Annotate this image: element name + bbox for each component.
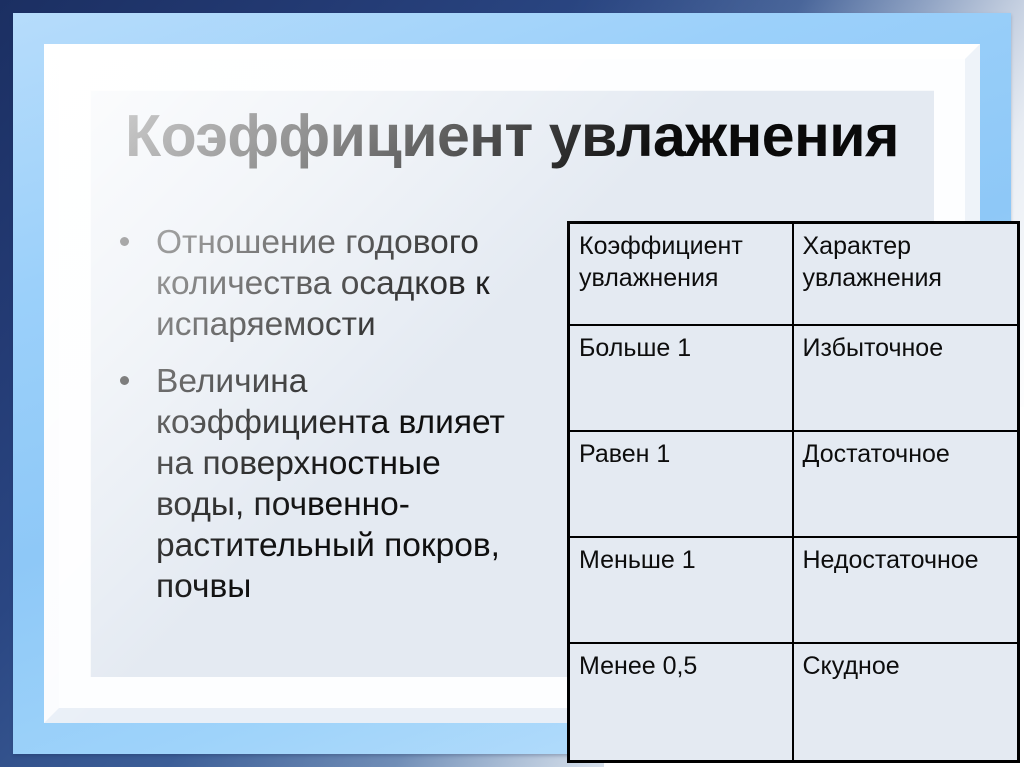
table-cell-character: Достаточное — [793, 431, 1019, 537]
table-header-cell: Коэффициент увлажнения — [569, 223, 793, 326]
table-row: Больше 1 Избыточное — [569, 325, 1019, 431]
table-cell-character: Избыточное — [793, 325, 1019, 431]
table-row: Коэффициент увлажнения Характер увлажнен… — [569, 223, 1019, 326]
table-cell-character: Скудное — [793, 643, 1019, 762]
moisture-coefficient-table: Коэффициент увлажнения Характер увлажнен… — [567, 221, 1020, 763]
slide-content-area: Коэффициент увлажнения Отношение годовог… — [90, 90, 934, 677]
slide-body: Отношение годового количества осадков к … — [90, 208, 934, 677]
list-item: Отношение годового количества осадков к … — [104, 222, 534, 345]
table-cell-character: Недостаточное — [793, 537, 1019, 643]
bullet-dot-icon — [120, 237, 129, 246]
table-row: Менее 0,5 Скудное — [569, 643, 1019, 762]
table-cell-coefficient: Больше 1 — [569, 325, 793, 431]
table-cell-coefficient: Менее 0,5 — [569, 643, 793, 762]
page-title: Коэффициент увлажнения — [90, 106, 934, 168]
bullet-list: Отношение годового количества осадков к … — [104, 222, 534, 623]
list-item-text: Отношение годового количества осадков к … — [156, 224, 490, 343]
bullet-dot-icon — [120, 376, 129, 385]
slide-canvas: Коэффициент увлажнения Отношение годовог… — [0, 0, 1024, 767]
frame-blue-band: Коэффициент увлажнения Отношение годовог… — [13, 13, 1011, 754]
frame-white-bevel: Коэффициент увлажнения Отношение годовог… — [44, 44, 980, 723]
table-cell-coefficient: Меньше 1 — [569, 537, 793, 643]
list-item-text: Величина коэффициента влияет на поверхно… — [156, 363, 505, 605]
list-item: Величина коэффициента влияет на поверхно… — [104, 361, 534, 607]
table-row: Равен 1 Достаточное — [569, 431, 1019, 537]
table-row: Меньше 1 Недостаточное — [569, 537, 1019, 643]
table-cell-coefficient: Равен 1 — [569, 431, 793, 537]
table-header-cell: Характер увлажнения — [793, 223, 1019, 326]
